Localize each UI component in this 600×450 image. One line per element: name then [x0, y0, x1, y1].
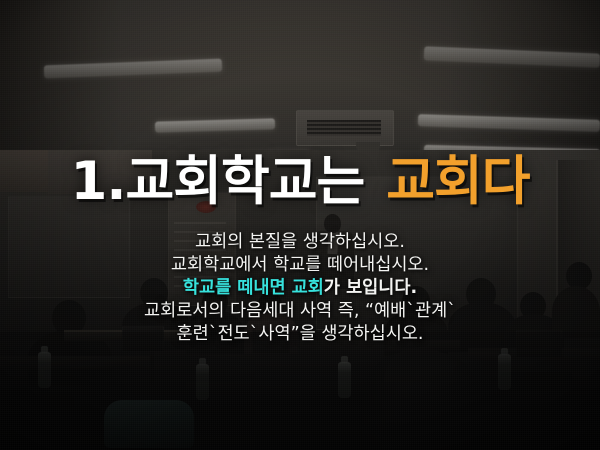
slide-body: 교회의 본질을 생각하십시오. 교회학교에서 학교를 떼어내십시오. 학교를 떼… [0, 231, 600, 346]
title-number: 1. [70, 151, 125, 212]
body-line-1-text: 교회의 본질을 생각하십시오. [195, 232, 405, 252]
title-accent-text: 교회다 [386, 151, 529, 212]
body-line-3-highlight-b: 교회 [292, 278, 324, 298]
body-line-5: 훈련`전도`사역”을 생각하십시오. [0, 323, 600, 346]
body-line-4: 교회로서의 다음세대 사역 즉, “예배`관계` [0, 300, 600, 323]
body-line-1: 교회의 본질을 생각하십시오. [0, 231, 600, 254]
body-line-2: 교회학교에서 학교를 떼어내십시오. [0, 254, 600, 277]
slide-title: 1.교회학교는교회다 [0, 152, 600, 212]
presentation-slide: 1.교회학교는교회다 교회의 본질을 생각하십시오. 교회학교에서 학교를 떼어… [0, 0, 600, 450]
body-line-4-text: 교회로서의 다음세대 사역 즉, “예배`관계` [144, 301, 456, 321]
body-line-2-text: 교회학교에서 학교를 떼어내십시오. [171, 255, 429, 275]
body-line-3-plain: 가 보입니다. [324, 278, 417, 298]
title-main-text: 교회학교는 [125, 151, 364, 212]
slide-content: 1.교회학교는교회다 교회의 본질을 생각하십시오. 교회학교에서 학교를 떼어… [0, 0, 600, 450]
body-line-5-text: 훈련`전도`사역”을 생각하십시오. [177, 324, 424, 344]
body-line-3: 학교를 떼내면 교회가 보입니다. [0, 277, 600, 300]
body-line-3-highlight-a: 학교를 떼내면 [183, 278, 292, 298]
